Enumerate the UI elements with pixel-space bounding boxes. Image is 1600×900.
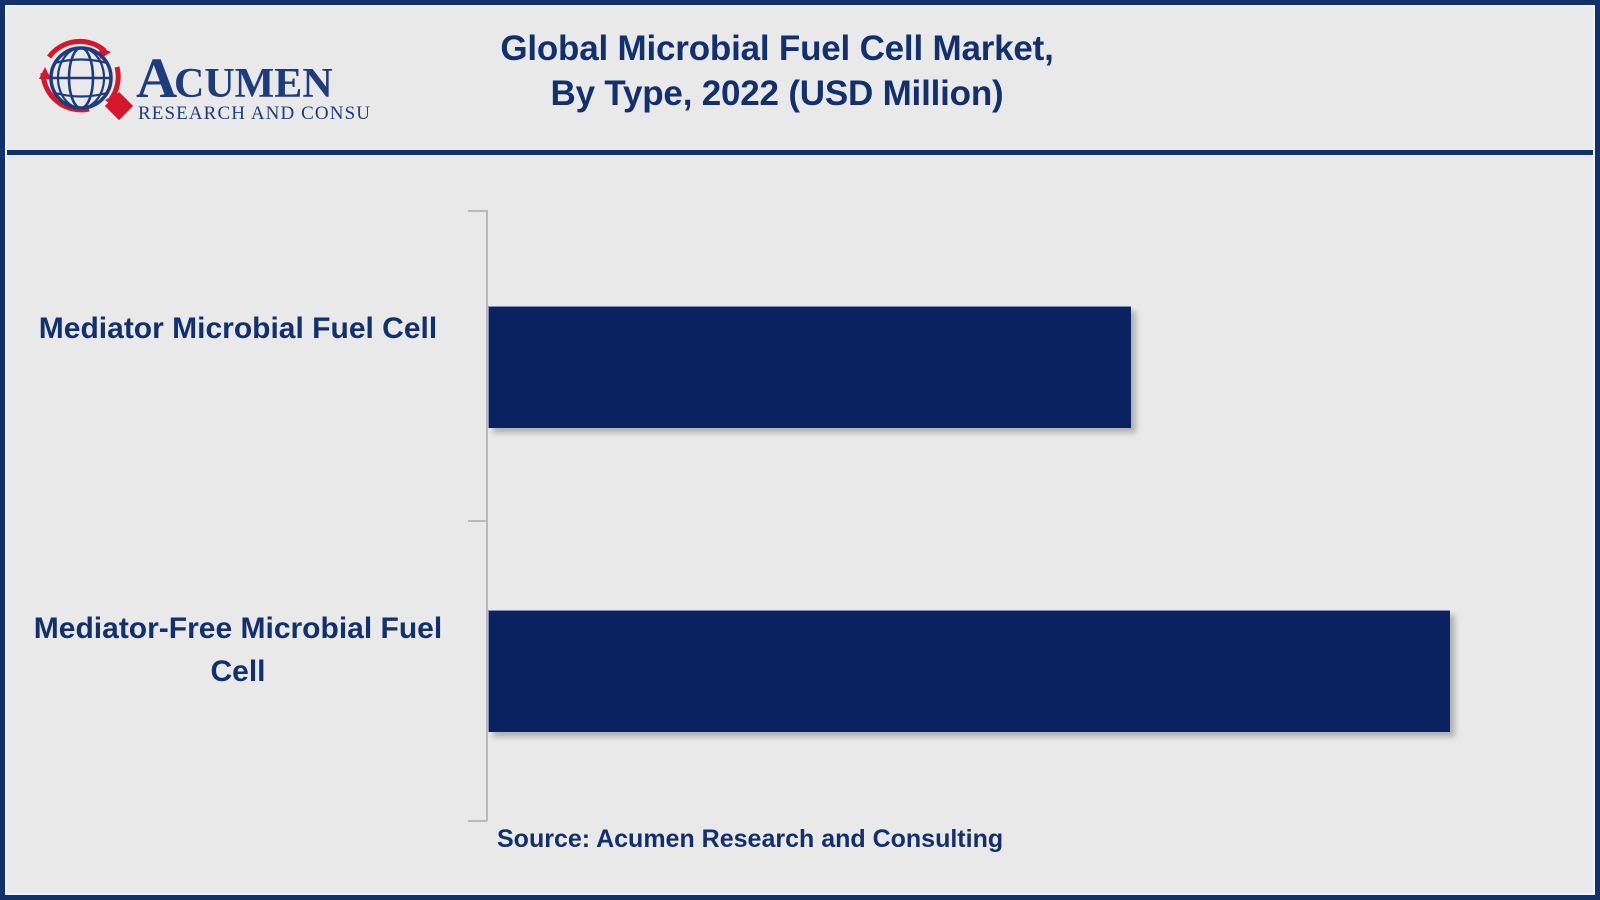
title-line-1: Global Microbial Fuel Cell Market,: [387, 27, 1167, 72]
bar-mediator-free-microbial-fuel-cell: [488, 610, 1450, 732]
svg-text:RESEARCH AND CONSULTING: RESEARCH AND CONSULTING: [138, 103, 371, 124]
chart-figure: A CUMEN RESEARCH AND CONSULTING Global M…: [0, 0, 1600, 900]
acumen-logo-graphic: A CUMEN RESEARCH AND CONSULTING: [31, 29, 371, 129]
category-label-mediator-free-microbial-fuel-cell: Mediator-Free Microbial Fuel Cell: [13, 608, 463, 693]
axis-tick-middle: [468, 520, 487, 522]
svg-text:CUMEN: CUMEN: [174, 61, 333, 107]
category-label-mediator-microbial-fuel-cell: Mediator Microbial Fuel Cell: [13, 308, 463, 351]
acumen-logo: A CUMEN RESEARCH AND CONSULTING: [31, 29, 371, 129]
title-line-2: By Type, 2022 (USD Million): [387, 72, 1167, 117]
figure-header: A CUMEN RESEARCH AND CONSULTING Global M…: [7, 7, 1593, 150]
bar-mediator-microbial-fuel-cell: [488, 306, 1131, 428]
page-title: Global Microbial Fuel Cell Market, By Ty…: [387, 27, 1167, 117]
axis-tick-top: [468, 210, 487, 212]
svg-text:A: A: [136, 47, 177, 110]
figure-inner-panel: A CUMEN RESEARCH AND CONSULTING Global M…: [5, 5, 1595, 895]
axis-tick-bottom: [468, 820, 487, 822]
source-note: Source: Acumen Research and Consulting: [497, 825, 1003, 854]
chart-plot-area: Mediator Microbial Fuel Cell Mediator-Fr…: [7, 155, 1593, 895]
